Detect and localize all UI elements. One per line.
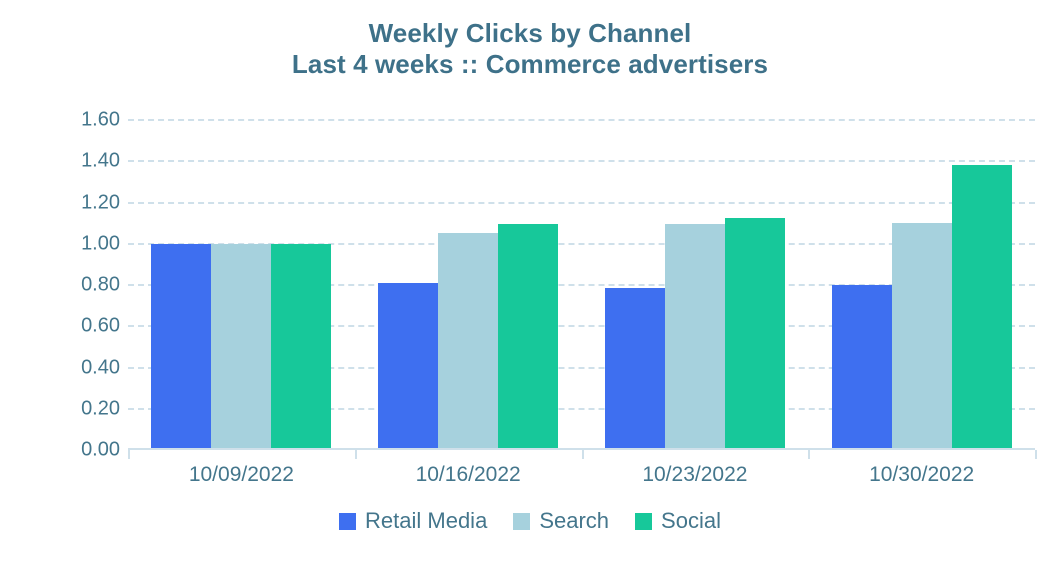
x-axis-tick [582,450,584,459]
bars-layer [128,120,1035,450]
x-axis-tick [1035,450,1037,459]
bar [498,224,558,450]
legend-swatch-icon [513,513,530,530]
bar [438,233,498,450]
legend-item[interactable]: Search [513,508,609,534]
legend-item[interactable]: Social [635,508,721,534]
x-axis-tick [808,450,810,459]
bar [665,224,725,450]
chart-title: Weekly Clicks by Channel [0,18,1060,49]
bar [892,223,952,450]
bar [271,244,331,450]
y-axis-tick-label: 0.00 [58,439,120,462]
bar [832,285,892,450]
x-axis-tick [355,450,357,459]
y-axis-tick-label: 0.80 [58,274,120,297]
legend-swatch-icon [339,513,356,530]
bar [605,288,665,450]
x-axis-tick [128,450,130,459]
bar [952,165,1012,450]
bar [378,283,438,450]
x-axis-category-label: 10/16/2022 [416,463,521,487]
y-axis-tick-label: 0.60 [58,315,120,338]
bar [211,244,271,450]
chart-subtitle: Last 4 weeks :: Commerce advertisers [0,49,1060,80]
y-axis-tick-label: 1.20 [58,191,120,214]
y-axis-tick-label: 1.60 [58,109,120,132]
y-axis-tick-labels: 0.000.200.400.600.801.001.201.401.60 [58,120,120,450]
legend-swatch-icon [635,513,652,530]
chart-legend: Retail MediaSearchSocial [0,508,1060,534]
x-axis-category-label: 10/09/2022 [189,463,294,487]
plot-area [128,120,1035,450]
x-axis-category-label: 10/23/2022 [642,463,747,487]
legend-label: Retail Media [365,508,487,534]
y-axis-tick-label: 0.20 [58,397,120,420]
bar [151,244,211,450]
x-axis-category-labels: 10/09/202210/16/202210/23/202210/30/2022 [128,463,1035,495]
y-axis-tick-label: 1.00 [58,232,120,255]
chart-container: Weekly Clicks by Channel Last 4 weeks ::… [0,0,1060,566]
bar [725,218,785,450]
legend-label: Search [539,508,609,534]
legend-label: Social [661,508,721,534]
legend-item[interactable]: Retail Media [339,508,487,534]
chart-title-block: Weekly Clicks by Channel Last 4 weeks ::… [0,18,1060,79]
y-axis-tick-label: 0.40 [58,356,120,379]
x-axis-category-label: 10/30/2022 [869,463,974,487]
y-axis-tick-label: 1.40 [58,150,120,173]
